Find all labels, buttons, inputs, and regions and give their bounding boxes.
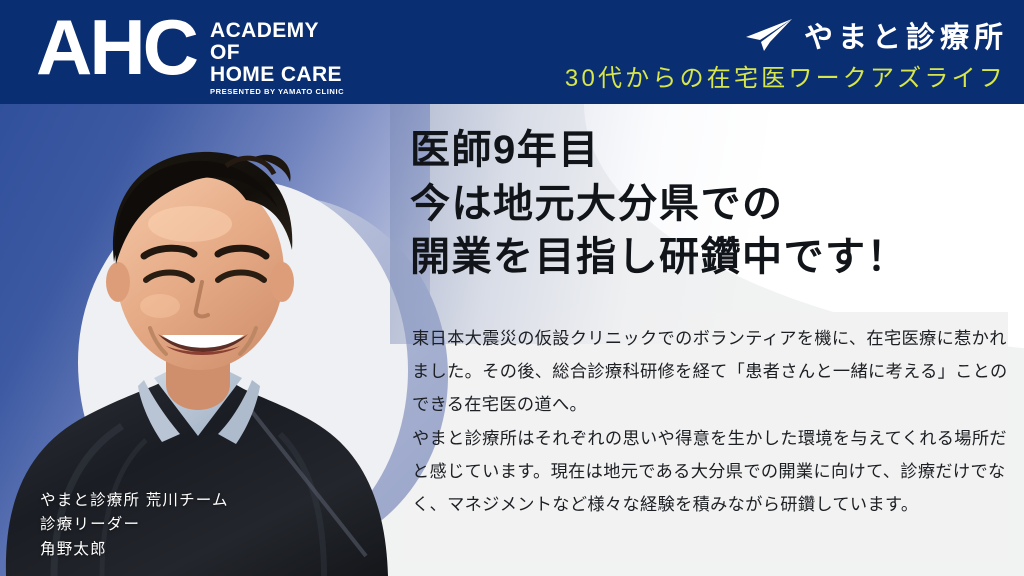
body-paragraph-2: やまと診療所はそれぞれの思いや得意を生かした環境を与えてくれる場所だと感じていま… (412, 422, 1008, 522)
yamato-clinic-brand: やまと診療所 (740, 14, 1008, 56)
slide-header: AHC ACADEMY OF HOME CARE PRESENTED BY YA… (0, 0, 1024, 104)
caption-line-role: 診療リーダー (40, 513, 229, 537)
ahc-logo-line-of: OF (210, 42, 344, 64)
portrait-caption: やまと診療所 荒川チーム 診療リーダー 角野太郎 (40, 489, 229, 562)
presentation-slide: やまと診療所 荒川チーム 診療リーダー 角野太郎 AHC ACADEMY OF … (0, 0, 1024, 576)
body-copy: 東日本大震災の仮設クリニックでのボランティアを機に、在宅医療に惹かれました。その… (412, 322, 1008, 521)
paper-plane-swoosh-icon (740, 18, 794, 52)
ahc-logo-presented-by: PRESENTED BY YAMATO CLINIC (210, 88, 344, 96)
headline: 医師9年目 今は地元大分県での 開業を目指し研鑽中です！ (410, 124, 908, 285)
headline-line-2: 今は地元大分県での (410, 178, 908, 232)
caption-line-team: やまと診療所 荒川チーム (40, 489, 229, 513)
ahc-logo-line-academy: ACADEMY (210, 20, 344, 42)
ahc-logo-monogram: AHC (36, 8, 196, 86)
body-paragraph-1: 東日本大震災の仮設クリニックでのボランティアを機に、在宅医療に惹かれました。その… (412, 322, 1008, 422)
headline-line-1: 医師9年目 (410, 124, 908, 178)
yamato-clinic-name: やまと診療所 (804, 14, 1008, 56)
ahc-logo-wordmark: ACADEMY OF HOME CARE PRESENTED BY YAMATO… (210, 8, 344, 96)
header-tagline: 30代からの在宅医ワークアズライフ (565, 58, 1006, 93)
caption-line-name: 角野太郎 (40, 538, 229, 562)
headline-line-3: 開業を目指し研鑽中です！ (410, 231, 908, 285)
ahc-logo-line-home-care: HOME CARE (210, 64, 344, 86)
ahc-logo: AHC ACADEMY OF HOME CARE PRESENTED BY YA… (36, 8, 344, 96)
